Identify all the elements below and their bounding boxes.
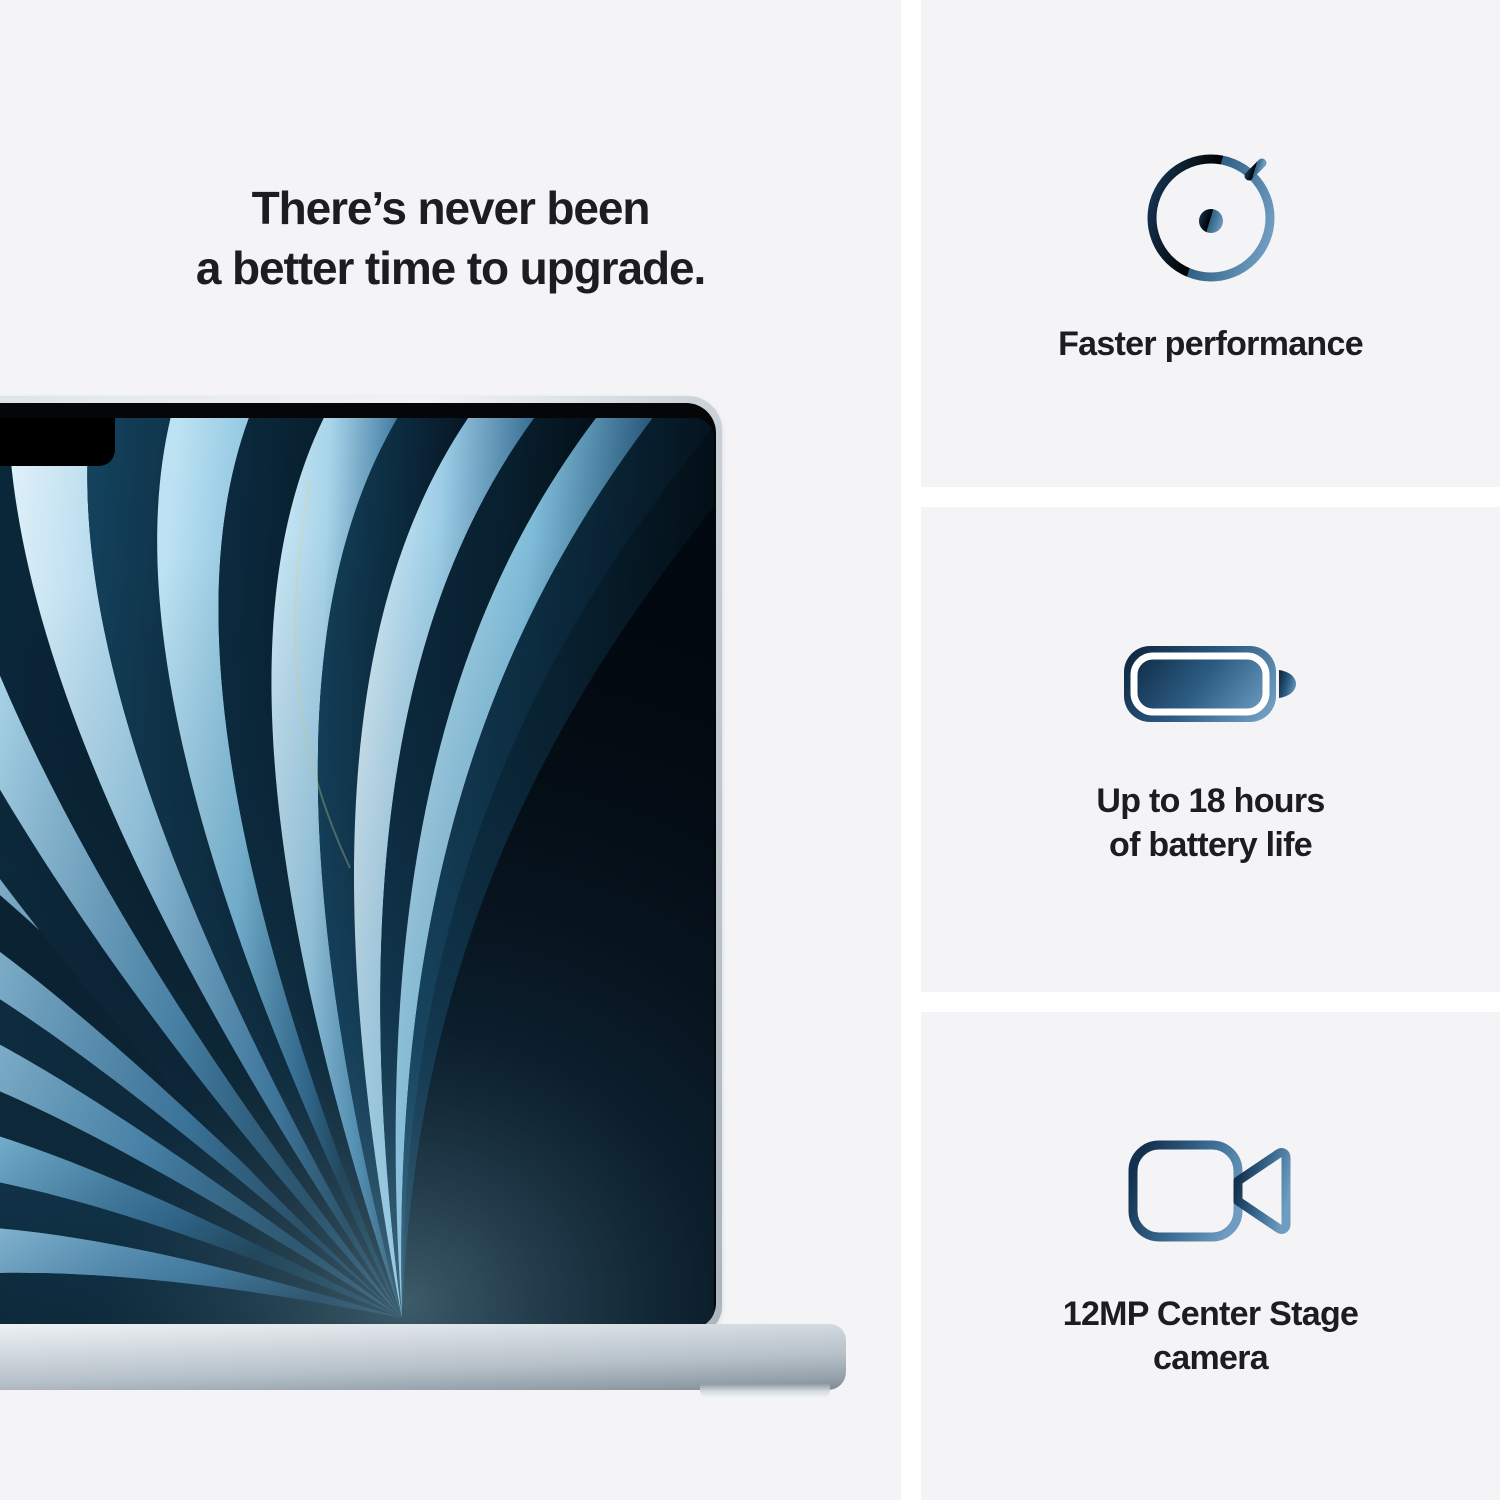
- feature-label-battery: Up to 18 hours of battery life: [1096, 780, 1324, 867]
- feature-label-camera: 12MP Center Stage camera: [1063, 1293, 1358, 1380]
- video-camera-icon: [1126, 1131, 1296, 1251]
- laptop-foot: [700, 1384, 830, 1397]
- feature-card-camera: 12MP Center Stage camera: [921, 1012, 1500, 1500]
- laptop-display-glass: [0, 403, 716, 1329]
- feature-label-performance: Faster performance: [1058, 323, 1363, 367]
- desktop-wallpaper: [0, 418, 714, 1329]
- product-feature-layout: There’s never been a better time to upgr…: [0, 0, 1500, 1500]
- feature-card-performance: Faster performance: [921, 0, 1500, 487]
- feature-card-battery: Up to 18 hours of battery life: [921, 507, 1500, 992]
- laptop-screen: [0, 418, 714, 1329]
- laptop-lid: [0, 396, 722, 1336]
- stopwatch-icon: [1136, 121, 1286, 289]
- laptop-base: [0, 1324, 846, 1390]
- battery-full-icon: [1120, 632, 1302, 736]
- display-notch: [0, 418, 115, 466]
- hero-panel: There’s never been a better time to upgr…: [0, 0, 901, 1500]
- page-title: There’s never been a better time to upgr…: [0, 179, 901, 299]
- macbook-air-product-image: [0, 396, 730, 1406]
